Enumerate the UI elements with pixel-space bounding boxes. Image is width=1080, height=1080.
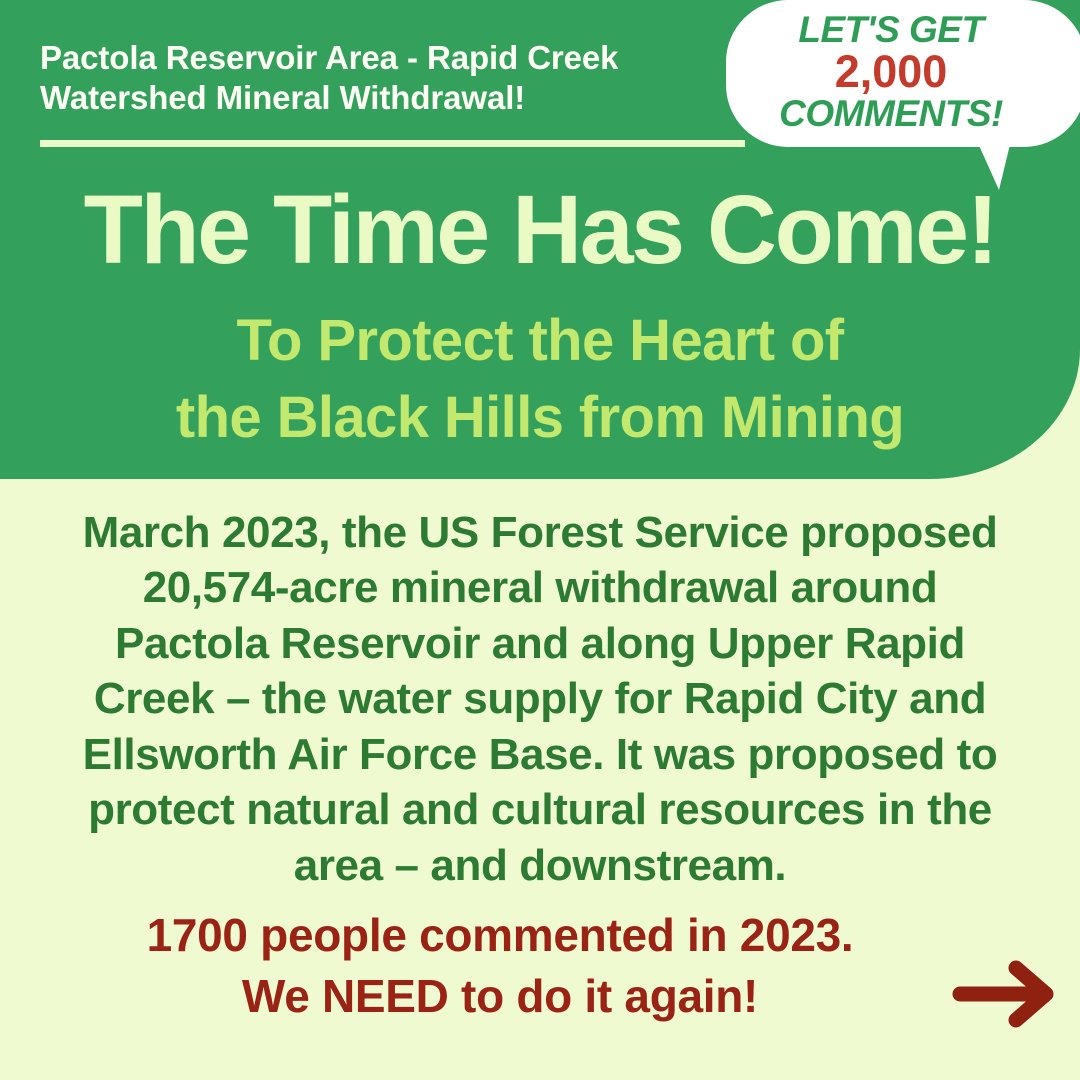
cta-line-2: We NEED to do it again! xyxy=(60,966,940,1027)
call-to-action-text: 1700 people commented in 2023. We NEED t… xyxy=(60,905,940,1027)
bubble-line-3: COMMENTS! xyxy=(726,95,1056,133)
bubble-line-1: LET'S GET xyxy=(726,11,1056,49)
speech-bubble-tail-icon xyxy=(973,132,1013,190)
body-line: Creek – the water supply for Rapid City … xyxy=(50,671,1030,726)
arrow-right-icon[interactable] xyxy=(950,960,1062,1028)
header-divider-rule xyxy=(40,140,745,147)
subheading-line-1: To Protect the Heart of xyxy=(0,303,1080,380)
subheading-line-2: the Black Hills from Mining xyxy=(0,380,1080,457)
body-line: 20,574-acre mineral withdrawal around xyxy=(50,560,1030,615)
body-line: area – and downstream. xyxy=(50,838,1030,893)
body-line: Pactola Reservoir and along Upper Rapid xyxy=(50,616,1030,671)
bubble-goal-count: 2,000 xyxy=(726,49,1056,95)
body-line: Ellsworth Air Force Base. It was propose… xyxy=(50,727,1030,782)
body-line: March 2023, the US Forest Service propos… xyxy=(50,505,1030,560)
body-line: protect natural and cultural resources i… xyxy=(50,782,1030,837)
subheading: To Protect the Heart of the Black Hills … xyxy=(0,303,1080,456)
cta-line-1: 1700 people commented in 2023. xyxy=(60,905,940,966)
kicker-text: Pactola Reservoir Area - Rapid Creek Wat… xyxy=(40,38,680,119)
body-paragraph: March 2023, the US Forest Service propos… xyxy=(50,505,1030,893)
speech-bubble: LET'S GET 2,000 COMMENTS! xyxy=(726,0,1080,200)
poster-canvas: Pactola Reservoir Area - Rapid Creek Wat… xyxy=(0,0,1080,1080)
speech-bubble-text: LET'S GET 2,000 COMMENTS! xyxy=(726,11,1056,134)
